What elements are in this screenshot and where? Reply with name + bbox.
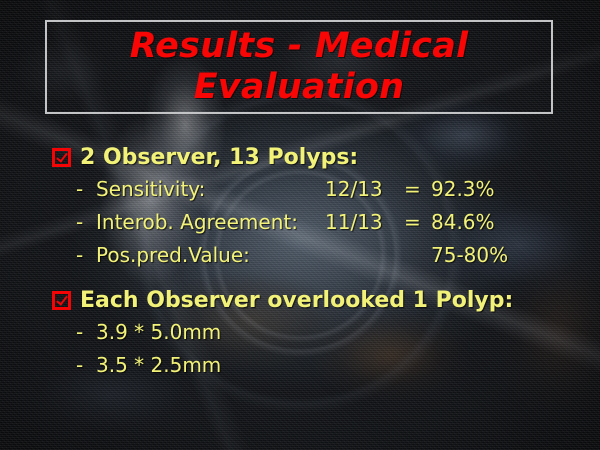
bullet-item-2: Each Observer overlooked 1 Polyp: — [0, 285, 600, 315]
checkbox-checked-icon — [52, 148, 71, 167]
sub-item-polyp-size-1: - 3.9 * 5.0mm — [0, 315, 600, 348]
slide-body: 2 Observer, 13 Polyps: - Sensitivity: 12… — [0, 138, 600, 381]
sub-item-label: Sensitivity: — [96, 177, 205, 201]
sub-item-interobserver-agreement: - Interob. Agreement: 11/13 = 84.6% — [0, 205, 600, 238]
sub-item-value: 75-80% — [431, 243, 508, 267]
dash-marker: - — [76, 243, 96, 267]
sub-item-fraction: 11/13 — [325, 210, 383, 234]
title-line-2: Evaluation — [194, 67, 405, 107]
sub-item-label: Pos.pred.Value: — [96, 243, 250, 267]
dash-marker: - — [76, 320, 96, 344]
checkbox-checked-icon — [52, 291, 71, 310]
sub-item-equals: = — [404, 210, 421, 234]
sub-item-positive-predictive-value: - Pos.pred.Value: 75-80% — [0, 238, 600, 271]
page-title: Results - MedicalEvaluation — [130, 26, 469, 109]
sub-item-value: 84.6% — [431, 210, 495, 234]
dash-marker: - — [76, 177, 96, 201]
sub-item-polyp-size-2: - 3.5 * 2.5mm — [0, 348, 600, 381]
bullet-label-2: Each Observer overlooked 1 Polyp: — [80, 288, 513, 313]
dash-marker: - — [76, 210, 96, 234]
sub-item-fraction: 12/13 — [325, 177, 383, 201]
bullet-label-1: 2 Observer, 13 Polyps: — [80, 145, 358, 170]
section-spacer — [0, 271, 600, 281]
bullet-item-1: 2 Observer, 13 Polyps: — [0, 142, 600, 172]
sub-item-value: 92.3% — [431, 177, 495, 201]
dash-marker: - — [76, 353, 96, 377]
presentation-slide: Results - MedicalEvaluation 2 Observer, … — [0, 0, 600, 450]
sub-item-label: 3.5 * 2.5mm — [96, 353, 221, 377]
title-line-1: Results - Medical — [130, 26, 469, 66]
sub-item-sensitivity: - Sensitivity: 12/13 = 92.3% — [0, 172, 600, 205]
sub-item-equals: = — [404, 177, 421, 201]
sub-item-label: 3.9 * 5.0mm — [96, 320, 221, 344]
title-box: Results - MedicalEvaluation — [45, 20, 553, 114]
sub-item-label: Interob. Agreement: — [96, 210, 298, 234]
